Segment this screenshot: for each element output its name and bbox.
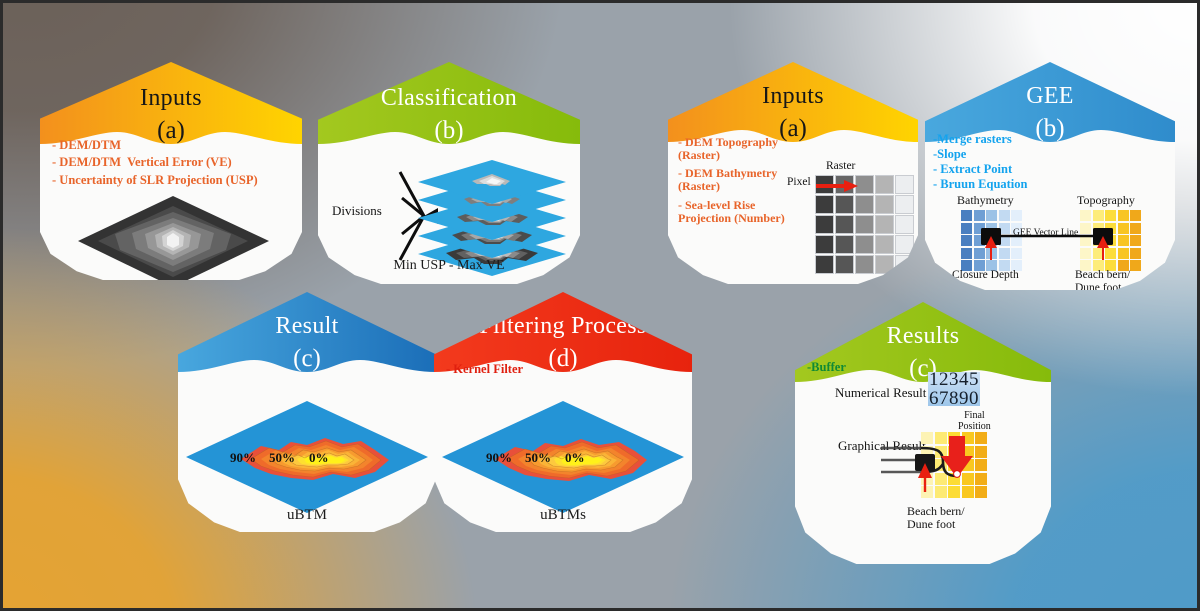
raster-label: Raster bbox=[826, 160, 855, 173]
hex-header bbox=[434, 292, 692, 372]
raster-cell bbox=[835, 235, 854, 254]
bullet-list: - Kernel Filter bbox=[446, 362, 523, 376]
raster-cell bbox=[895, 255, 914, 274]
contour-diamond: 90% 50% 0% bbox=[439, 398, 687, 516]
contour-label-0: 0% bbox=[309, 450, 329, 465]
raster-cell bbox=[875, 235, 894, 254]
header-wave-shape bbox=[40, 62, 302, 144]
raster-cell bbox=[855, 235, 874, 254]
raster-cell bbox=[815, 215, 834, 234]
bullet-item: -Slope bbox=[933, 147, 1027, 161]
panel-caption: uBTMs bbox=[434, 507, 692, 524]
panel-gee-b[interactable]: GEE (b) -Merge rasters -Slope - Extract … bbox=[925, 62, 1175, 290]
header-wave-shape bbox=[925, 62, 1175, 142]
bullet-item: - Sea-level Rise Projection (Number) bbox=[678, 199, 785, 226]
bullet-item: -Merge rasters bbox=[933, 132, 1027, 146]
contour-label-0: 0% bbox=[565, 450, 585, 465]
bullet-item: - Extract Point bbox=[933, 162, 1027, 176]
grayscale-diamond-surface bbox=[76, 194, 271, 280]
raster-cell bbox=[875, 175, 894, 194]
hex-card-body: Filtering Process (d) - Kernel Filter bbox=[434, 292, 692, 532]
gee-vector-line-label: GEE Vector Line bbox=[1013, 228, 1078, 238]
contour-label-50: 50% bbox=[525, 450, 551, 465]
pixel-arrow-icon bbox=[816, 179, 860, 193]
contour-label-90: 90% bbox=[486, 450, 512, 465]
header-wave-shape bbox=[318, 62, 580, 144]
panel-inputs-a-right[interactable]: Inputs (a) - DEM Topography (Raster) - D… bbox=[668, 62, 918, 284]
bullet-item: - DEM Topography (Raster) bbox=[678, 136, 785, 163]
raster-cell bbox=[835, 215, 854, 234]
raster-cell bbox=[835, 195, 854, 214]
pixel-label: Pixel bbox=[787, 176, 811, 189]
bullet-list: -Merge rasters -Slope - Extract Point - … bbox=[933, 132, 1027, 191]
divisions-label: Divisions bbox=[332, 204, 382, 218]
bullet-list: - DEM Topography (Raster) - DEM Bathymet… bbox=[678, 136, 785, 226]
hex-header bbox=[925, 62, 1175, 142]
raster-cell bbox=[875, 195, 894, 214]
raster-cell bbox=[815, 235, 834, 254]
bullet-item: - DEM/DTM bbox=[52, 138, 258, 152]
hex-header bbox=[318, 62, 580, 144]
panel-result-c[interactable]: Result (c) 90% 50% 0% bbox=[178, 292, 436, 532]
diagram-canvas: Inputs (a) - DEM/DTM - DEM/DTM Vertical … bbox=[0, 0, 1200, 611]
contour-label-90: 90% bbox=[230, 450, 256, 465]
bullet-item: - DEM Bathymetry (Raster) bbox=[678, 167, 785, 194]
bathymetry-label: Bathymetry bbox=[957, 194, 1014, 207]
numbers-line-1: 12345 bbox=[929, 370, 979, 389]
header-wave-shape bbox=[178, 292, 436, 372]
hex-card-body: Results (c) -Buffer Numerical Result 123… bbox=[795, 302, 1051, 564]
raster-cell bbox=[895, 235, 914, 254]
beach-berm-label: Beach bern/ Dune foot bbox=[1075, 269, 1130, 290]
hex-card-body: Inputs (a) - DEM/DTM - DEM/DTM Vertical … bbox=[40, 62, 302, 280]
hex-header bbox=[668, 62, 918, 142]
panel-caption: Min USP - Max VE bbox=[318, 258, 580, 274]
header-wave-shape bbox=[668, 62, 918, 142]
raster-cell bbox=[815, 195, 834, 214]
graphical-result-arrows bbox=[877, 430, 1007, 512]
bullet-item: - Kernel Filter bbox=[446, 362, 523, 376]
bullet-list: - DEM/DTM - DEM/DTM Vertical Error (VE) … bbox=[52, 138, 258, 187]
contour-label-50: 50% bbox=[269, 450, 295, 465]
panel-caption: uBTM bbox=[178, 507, 436, 524]
bullet-item: - Bruun Equation bbox=[933, 177, 1027, 191]
hex-card-body: Inputs (a) - DEM Topography (Raster) - D… bbox=[668, 62, 918, 284]
raster-cell bbox=[855, 255, 874, 274]
raster-cell bbox=[895, 195, 914, 214]
raster-cell bbox=[895, 175, 914, 194]
raster-cell bbox=[835, 255, 854, 274]
raster-cell bbox=[815, 255, 834, 274]
bullet-item: - Uncertainty of SLR Projection (USP) bbox=[52, 173, 258, 187]
panel-filtering-d[interactable]: Filtering Process (d) - Kernel Filter bbox=[434, 292, 692, 532]
panel-inputs-a-left[interactable]: Inputs (a) - DEM/DTM - DEM/DTM Vertical … bbox=[40, 62, 302, 280]
hex-header bbox=[178, 292, 436, 372]
header-wave-shape bbox=[434, 292, 692, 372]
numbers-line-2: 67890 bbox=[929, 389, 979, 408]
raster-cell bbox=[895, 215, 914, 234]
contour-diamond: 90% 50% 0% bbox=[183, 398, 431, 516]
panel-results-c[interactable]: Results (c) -Buffer Numerical Result 123… bbox=[795, 302, 1051, 564]
numerical-result-label: Numerical Result bbox=[835, 386, 926, 400]
hex-header bbox=[40, 62, 302, 144]
numerical-result-box: 12345 67890 bbox=[928, 372, 980, 406]
raster-cell bbox=[875, 215, 894, 234]
bullet-list: -Buffer bbox=[807, 360, 846, 374]
panel-classification-b[interactable]: Classification (b) Divisions bbox=[318, 62, 580, 284]
hex-card-body: GEE (b) -Merge rasters -Slope - Extract … bbox=[925, 62, 1175, 290]
raster-cell bbox=[855, 215, 874, 234]
bullet-item: -Buffer bbox=[807, 360, 846, 374]
final-position-label: Final Position bbox=[958, 410, 991, 432]
closure-depth-label: Closure Depth bbox=[952, 269, 1019, 282]
hex-card-body: Result (c) 90% 50% 0% bbox=[178, 292, 436, 532]
beach-berm-label: Beach bern/ Dune foot bbox=[907, 505, 965, 531]
raster-cell bbox=[875, 255, 894, 274]
raster-cell bbox=[855, 195, 874, 214]
topography-label: Topography bbox=[1077, 194, 1135, 207]
hex-card-body: Classification (b) Divisions bbox=[318, 62, 580, 284]
bullet-item: - DEM/DTM Vertical Error (VE) bbox=[52, 155, 258, 169]
